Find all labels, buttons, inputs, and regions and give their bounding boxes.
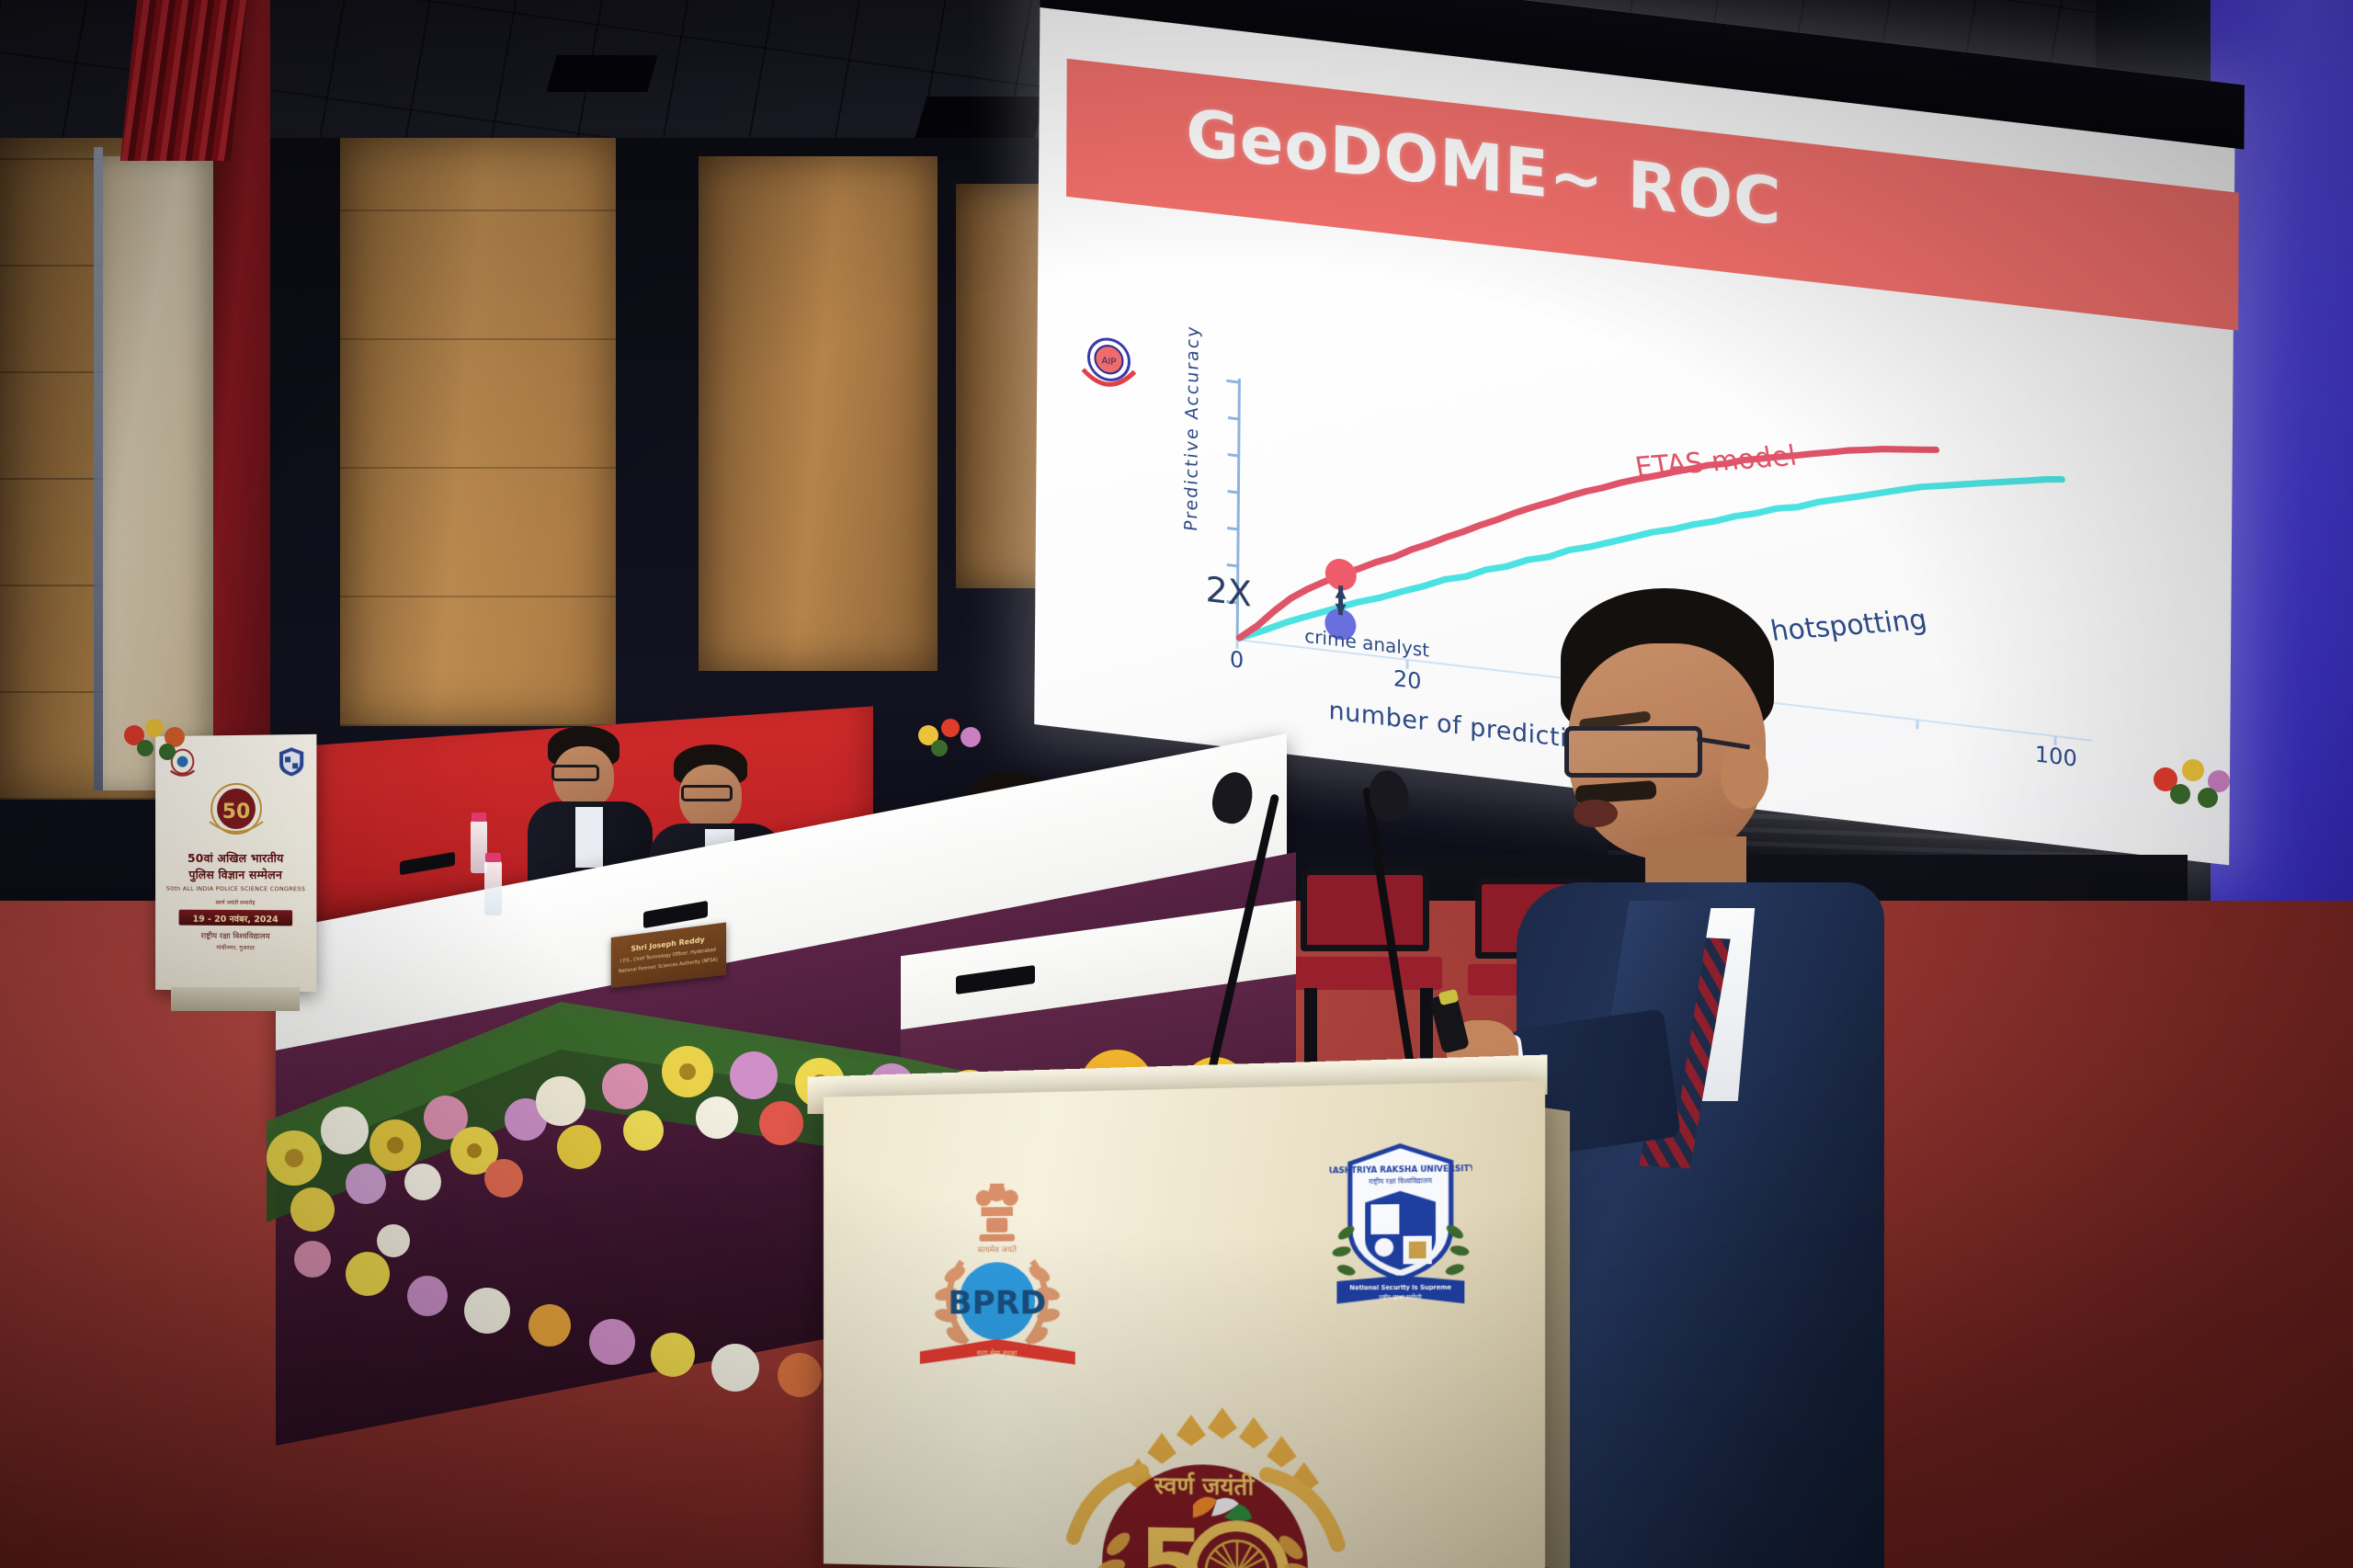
banner-title-hindi-line1: 50वां अखिल भारतीय	[155, 850, 316, 866]
speaker-ear	[1721, 743, 1768, 809]
conference-hall-scene: GeoDOME~ ROC AIP	[0, 0, 2353, 1568]
banner-logo-right-icon	[278, 745, 305, 778]
pillar-edge-trim	[94, 147, 103, 790]
flower-pot	[2142, 754, 2243, 818]
svg-text:सत्य सेवा सुरक्षा: सत्य सेवा सुरक्षा	[977, 1347, 1018, 1358]
x-tick-0: 0	[1230, 646, 1245, 674]
svg-text:BPRD: BPRD	[948, 1284, 1046, 1322]
bottle-cap	[472, 812, 486, 822]
banner-dates: 19 - 20 नवंबर, 2024	[155, 913, 316, 926]
banner-jubilee-50-icon: 50	[204, 779, 268, 844]
wood-wall-panel	[340, 138, 616, 726]
y-axis-label: Predictive Accuracy	[1181, 324, 1203, 532]
x-tick-100: 100	[2035, 741, 2077, 771]
banner-title-hindi-line2: पुलिस विज्ञान सम्मेलन	[155, 867, 316, 882]
svg-text:राष्ट्रीय रक्षा विश्वविद्यालय: राष्ट्रीय रक्षा विश्वविद्यालय	[1369, 1176, 1433, 1186]
banner-city: गांधीनगर, गुजरात	[155, 942, 316, 952]
banner-tagline: स्वर्ण जयंती समारोह	[155, 899, 316, 907]
svg-text:50: 50	[222, 801, 250, 824]
banner-stand	[171, 987, 300, 1011]
golden-jubilee-50-emblem-icon: स्वर्ण जयंती 5	[1041, 1382, 1372, 1568]
svg-text:सत्यमेव जयते: सत्यमेव जयते	[978, 1244, 1017, 1255]
cream-pillar	[103, 156, 213, 790]
svg-text:AIP: AIP	[1101, 356, 1116, 368]
flower-pot	[118, 715, 200, 770]
banner-title-english: 50th ALL INDIA POLICE SCIENCE CONGRESS	[155, 885, 316, 892]
speaker-glasses-icon	[1564, 726, 1702, 778]
ceiling-vent	[546, 55, 657, 92]
red-curtain-valance	[120, 0, 247, 161]
podium: सत्यमेव जयते BPRD सत्य सेवा सुरक्षा	[824, 1081, 1545, 1568]
banner-organiser: राष्ट्रीय रक्षा विश्वविद्यालय	[155, 930, 316, 941]
svg-text:National Security is Supreme: National Security is Supreme	[1349, 1285, 1451, 1292]
police-science-congress-emblem-icon: AIP	[1077, 328, 1146, 404]
svg-text:स्वर्ण जयंती: स्वर्ण जयंती	[1154, 1471, 1256, 1501]
x-tick-20: 20	[1393, 665, 1422, 695]
rashtriya-raksha-university-emblem-icon: RASHTRIYA RAKSHA UNIVERSITY राष्ट्रीय रक…	[1329, 1141, 1472, 1311]
wood-wall-panel	[699, 156, 938, 671]
bprd-emblem-icon: सत्यमेव जयते BPRD सत्य सेवा सुरक्षा	[910, 1173, 1086, 1369]
event-standee-banner: 50 50वां अखिल भारतीय पुलिस विज्ञान सम्मे…	[155, 734, 316, 992]
speaker-mouth	[1574, 800, 1618, 827]
annotation-2x: 2X	[1205, 569, 1252, 615]
flower-pot	[910, 715, 993, 768]
svg-text:राष्ट्रीय सुरक्षा सर्वोपरि: राष्ट्रीय सुरक्षा सर्वोपरि	[1379, 1293, 1422, 1301]
